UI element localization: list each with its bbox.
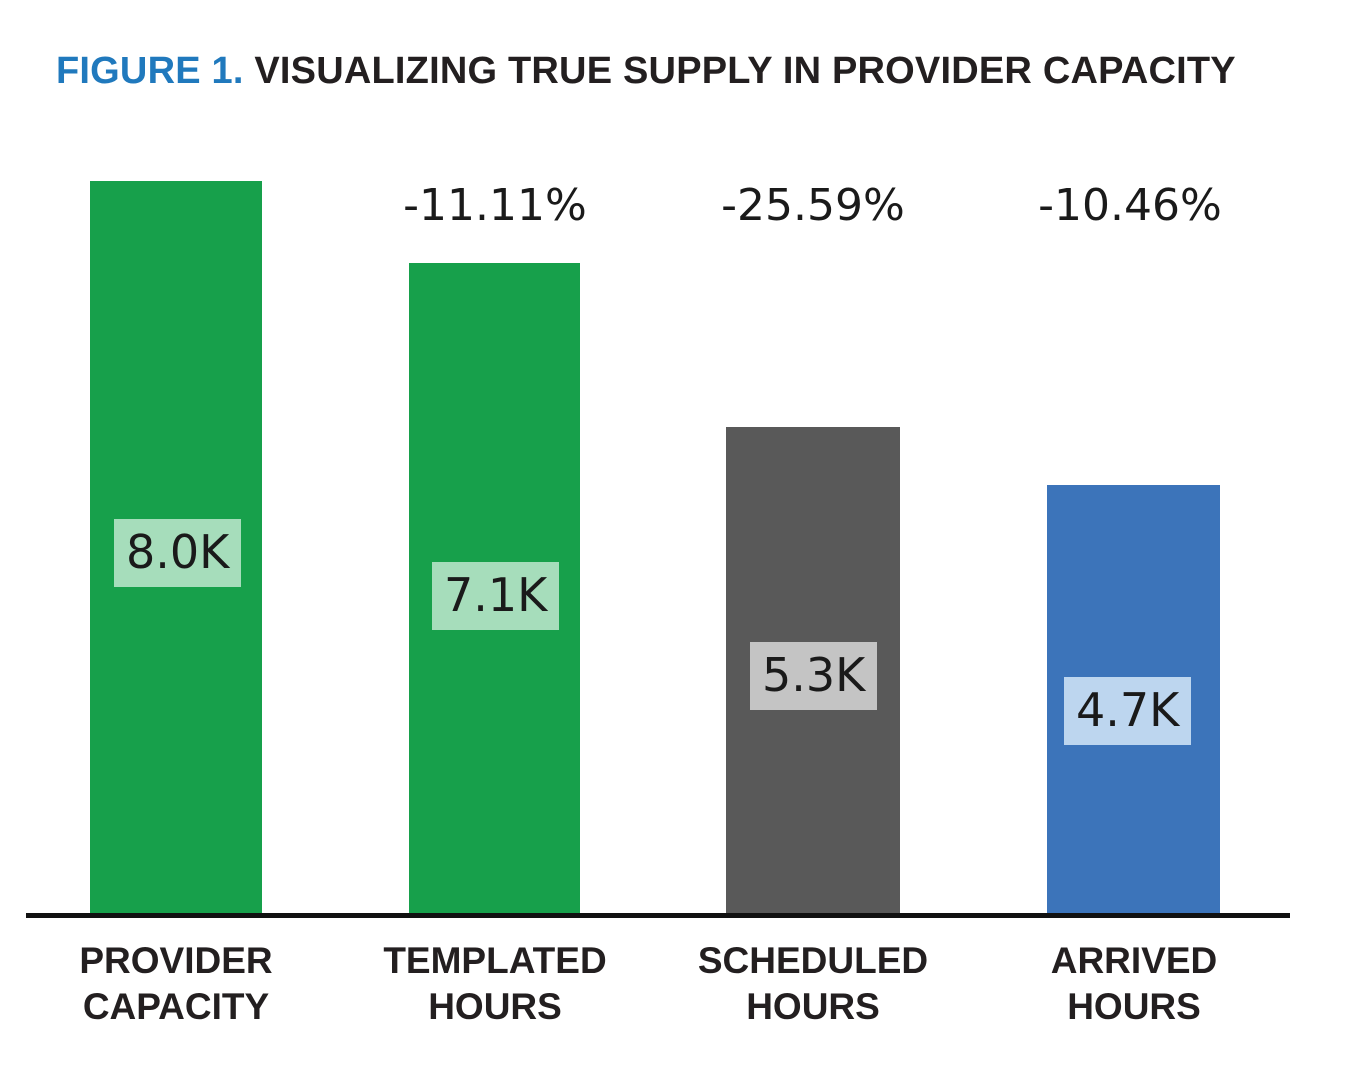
value-label-provider-capacity: 8.0K — [114, 519, 241, 587]
change-label-arrived-hours: -10.46% — [990, 178, 1270, 234]
chart-plot-area: -11.11% -25.59% -10.46% 8.0K 7.1K 5.3K 4… — [0, 0, 1350, 1083]
category-label-provider-capacity: PROVIDER CAPACITY — [26, 938, 326, 1030]
category-label-line: SCHEDULED — [663, 938, 963, 984]
value-label-arrived-hours: 4.7K — [1064, 677, 1191, 745]
category-label-line: CAPACITY — [26, 984, 326, 1030]
figure-root: FIGURE 1. VISUALIZING TRUE SUPPLY IN PRO… — [0, 0, 1350, 1083]
category-label-scheduled-hours: SCHEDULED HOURS — [663, 938, 963, 1030]
category-label-line: HOURS — [663, 984, 963, 1030]
x-axis-line — [26, 913, 1290, 918]
category-label-line: PROVIDER — [26, 938, 326, 984]
change-label-templated-hours: -11.11% — [355, 178, 635, 234]
value-label-templated-hours: 7.1K — [432, 562, 559, 630]
category-label-line: ARRIVED — [984, 938, 1284, 984]
category-label-arrived-hours: ARRIVED HOURS — [984, 938, 1284, 1030]
change-label-scheduled-hours: -25.59% — [673, 178, 953, 234]
category-label-line: TEMPLATED — [345, 938, 645, 984]
category-label-templated-hours: TEMPLATED HOURS — [345, 938, 645, 1030]
value-label-scheduled-hours: 5.3K — [750, 642, 877, 710]
category-label-line: HOURS — [984, 984, 1284, 1030]
category-label-line: HOURS — [345, 984, 645, 1030]
